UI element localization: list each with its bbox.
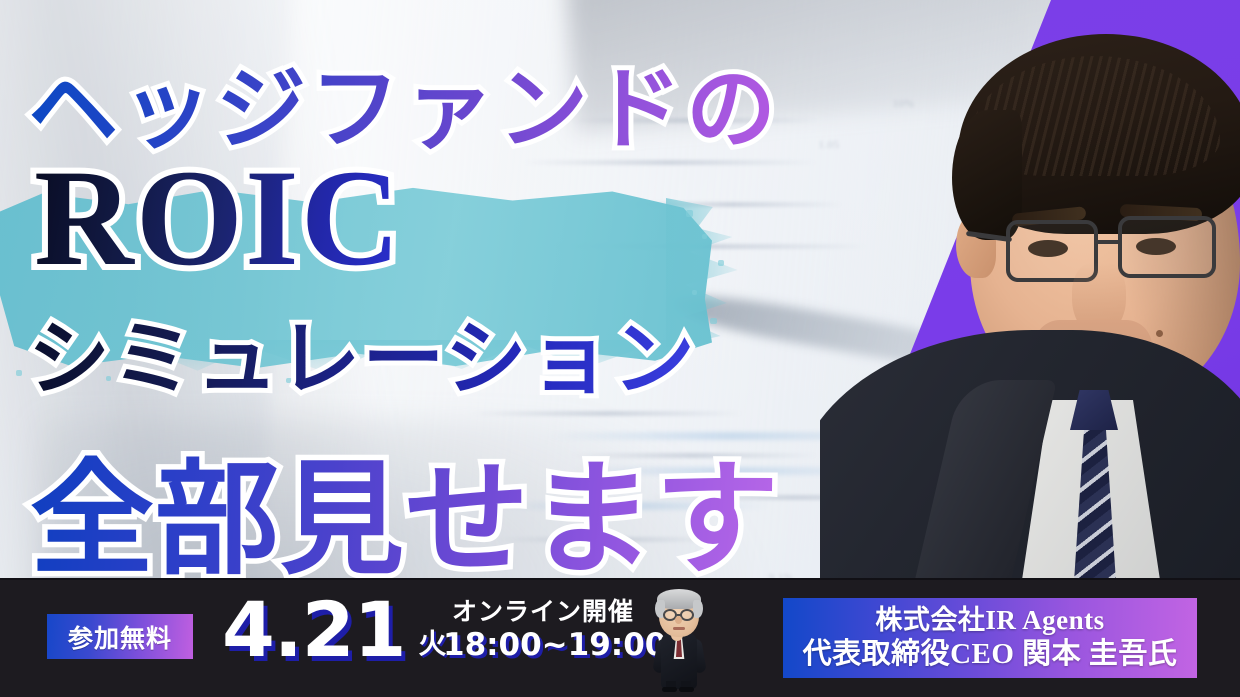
headline-line-4: 全部見せます: [30, 418, 780, 598]
portrait-glasses-right-lens: [1118, 216, 1216, 278]
webinar-banner: 10% 1.05 3.2 12% 0.98 9.1% 10% 15.3%: [0, 0, 1240, 697]
event-date-group: 4.21 火: [222, 592, 447, 668]
footer-top-edge: [0, 578, 1240, 580]
speaker-portrait-photo: [820, 0, 1240, 580]
mascot-shoe-right: [679, 687, 694, 692]
headline-block: ヘッジファンドの ヘッジファンドの ROIC ROIC シミュレーション シミュ…: [0, 0, 790, 580]
event-time-range: 18:00~19:00: [443, 627, 643, 664]
mascot-hair-right: [693, 600, 703, 618]
event-when-group: オンライン開催 18:00~19:00: [443, 596, 643, 664]
headline-line-3: シミュレーション: [28, 292, 697, 411]
speaker-company: 株式会社IR Agents: [875, 604, 1104, 637]
portrait-glasses-bridge: [1096, 240, 1122, 244]
mascot-shoe-left: [662, 687, 677, 692]
event-format-label: オンライン開催: [443, 596, 643, 627]
portrait-mole: [1156, 330, 1163, 337]
mascot-glasses-right: [680, 609, 694, 621]
speaker-title: 代表取締役CEO 関本 圭吾氏: [803, 637, 1178, 672]
investor-caricature-icon: [647, 587, 709, 691]
mascot-nose: [675, 616, 682, 624]
headline-line-2: ROIC: [34, 138, 402, 297]
speaker-credit-box: 株式会社IR Agents 代表取締役CEO 関本 圭吾氏: [783, 598, 1197, 678]
free-entry-badge-label: 参加無料: [68, 619, 172, 655]
event-date: 4.21: [222, 592, 406, 668]
mascot-mouth: [673, 627, 685, 630]
free-entry-badge: 参加無料: [47, 614, 193, 659]
portrait-inner: [820, 0, 1240, 580]
footer-bar: 参加無料 4.21 火 オンライン開催 18:00~19:00: [0, 578, 1240, 697]
